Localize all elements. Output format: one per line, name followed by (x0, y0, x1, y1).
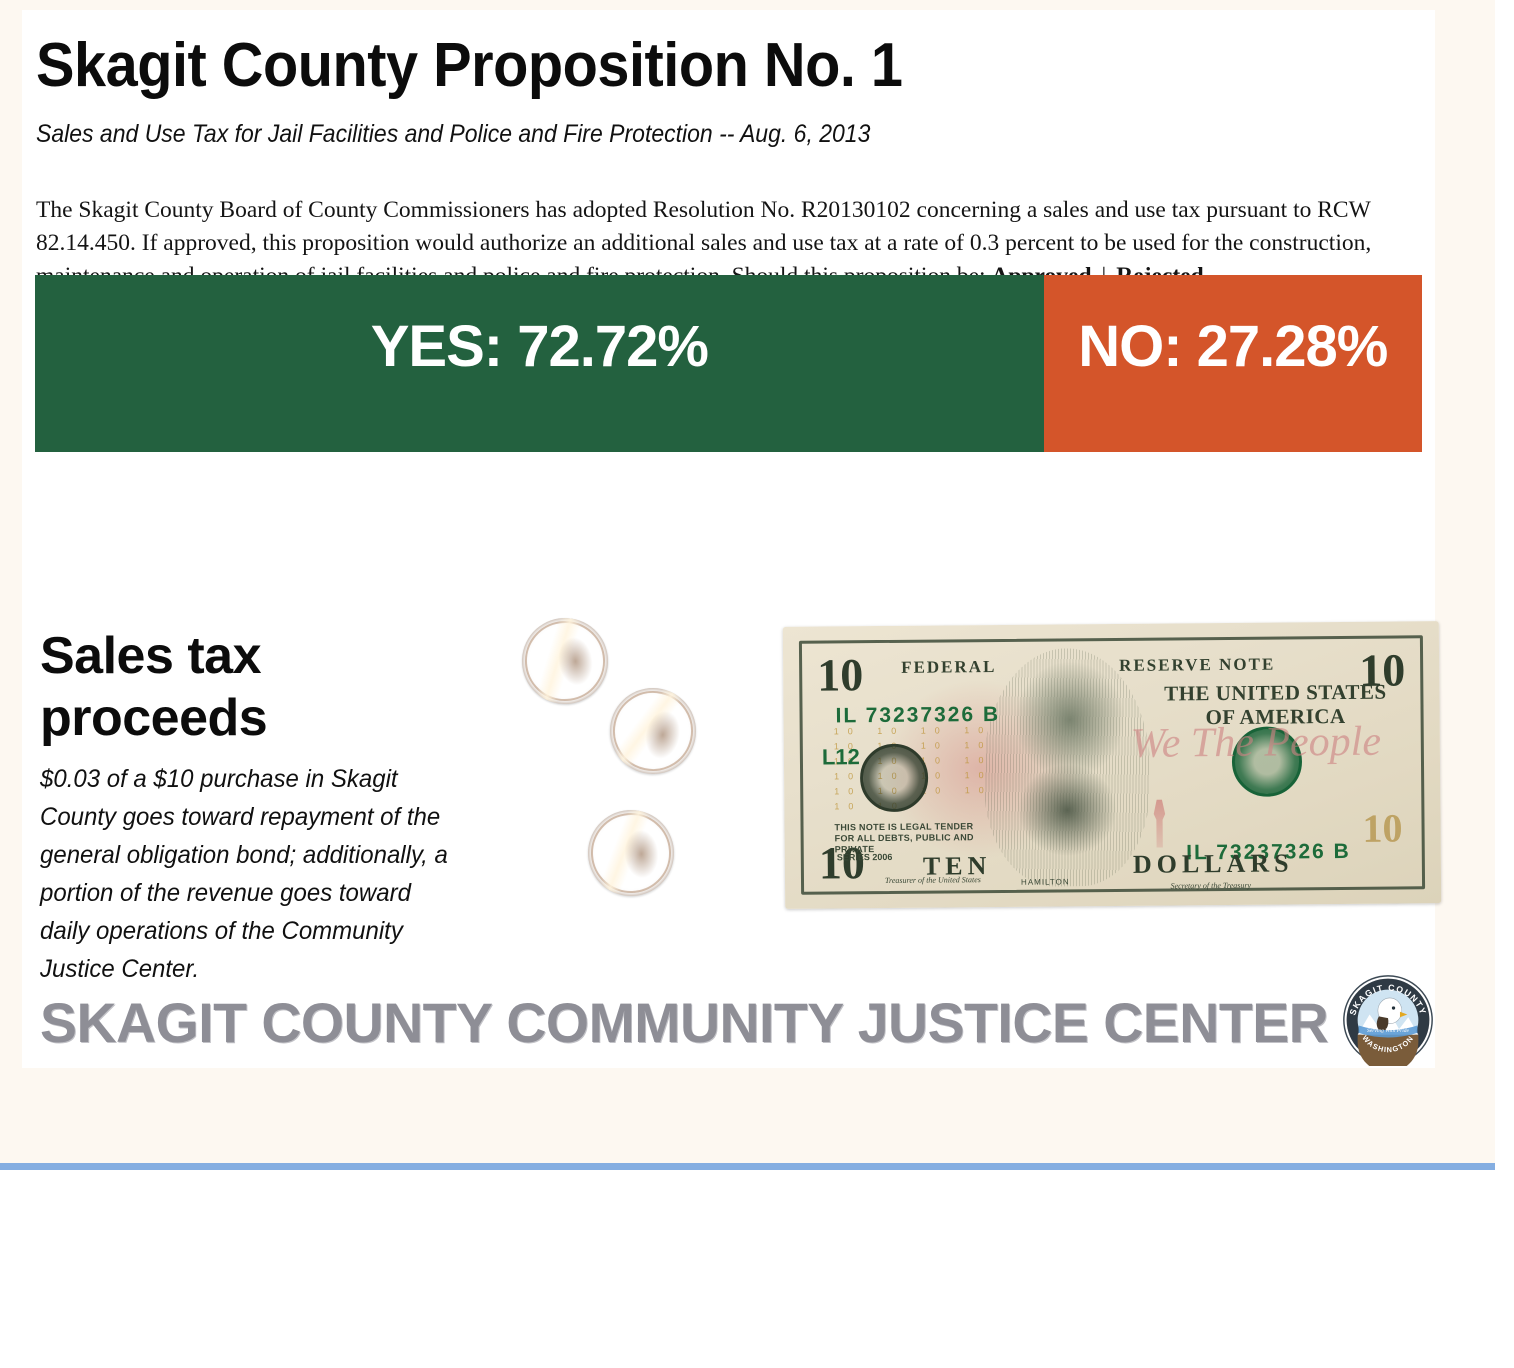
skagit-county-seal-icon: Serving With Pride SKAGIT COUNTY WASHING… (1342, 974, 1434, 1066)
vote-yes-label: YES: 72.72% (371, 313, 708, 380)
bill-ten-word: TEN (923, 851, 992, 882)
penny-coin-icon (585, 807, 677, 899)
bill-country-text: THE UNITED STATES OF AMERICA (1135, 679, 1415, 729)
bill-serial-number-left: IL 73237326 B (835, 703, 1000, 728)
bill-federal-text: FEDERAL (901, 657, 996, 678)
bill-country-line1: THE UNITED STATES (1135, 679, 1415, 705)
proceeds-description: $0.03 of a $10 purchase in Skagit County… (40, 760, 462, 988)
bill-denomination-watermark: 10 (1362, 804, 1402, 851)
bill-dollars-word: DOLLARS (1133, 848, 1294, 879)
vote-yes-segment: YES: 72.72% (35, 275, 1044, 452)
vote-no-label: NO: 27.28% (1078, 313, 1387, 380)
blue-divider-rule (0, 1163, 1495, 1170)
federal-reserve-seal-icon (860, 744, 929, 813)
proceeds-heading: Sales tax proceeds (40, 625, 370, 749)
bill-legal-tender-text: THIS NOTE IS LEGAL TENDER FOR ALL DEBTS,… (834, 821, 974, 855)
penny-coin-icon (602, 680, 704, 782)
vote-no-segment: NO: 27.28% (1044, 275, 1422, 452)
seal-banner-text: Serving With Pride (1367, 1028, 1410, 1034)
footer-wordmark: SKAGIT COUNTY COMMUNITY JUSTICE CENTER (40, 990, 1328, 1055)
bill-country-line2: OF AMERICA (1135, 703, 1415, 729)
page-subtitle: Sales and Use Tax for Jail Facilities an… (36, 120, 870, 149)
bill-series-text: SERIES 2006 (837, 852, 893, 862)
bill-denomination-top-left: 10 (817, 652, 863, 698)
bill-portrait-name: HAMILTON (1021, 877, 1070, 886)
vote-results-bar: YES: 72.72% NO: 27.28% (35, 275, 1422, 452)
bill-district-code: L12 (822, 744, 860, 770)
page-title: Skagit County Proposition No. 1 (36, 30, 903, 101)
penny-coin-icon (516, 612, 613, 709)
bill-reserve-note-text: RESERVE NOTE (1119, 655, 1275, 676)
bill-secretary-line: Secretary of the Treasury (1171, 881, 1252, 891)
infographic-card: Skagit County Proposition No. 1 Sales an… (22, 10, 1435, 1068)
ten-dollar-bill-image: 10 10 10 10 10 10 10 10 10 10 10 10 10 1… (783, 621, 1441, 909)
